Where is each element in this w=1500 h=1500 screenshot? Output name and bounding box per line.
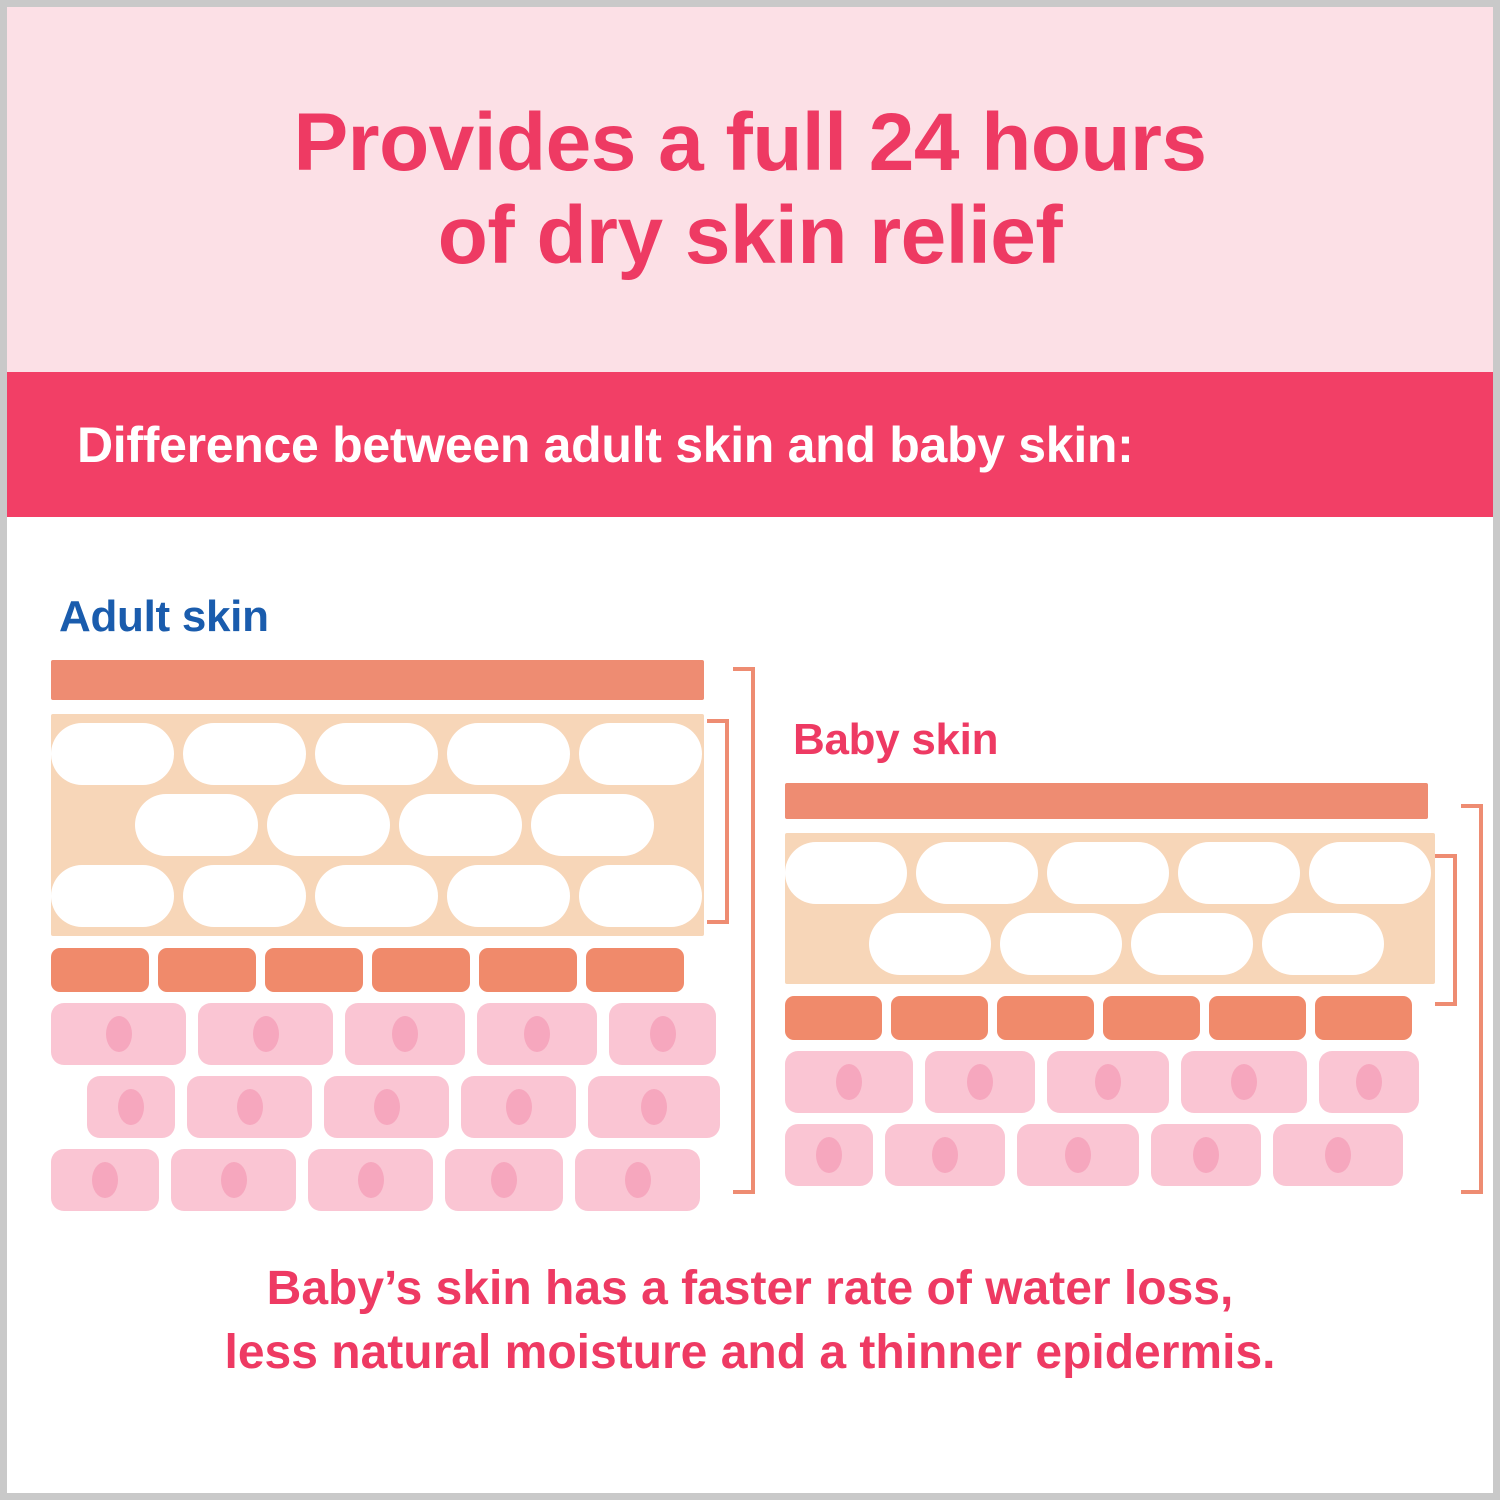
cell-nucleus	[641, 1089, 667, 1125]
cell-nucleus	[650, 1016, 676, 1052]
epidermis-cell	[1309, 842, 1431, 904]
dermis-cell	[1319, 1051, 1419, 1113]
epidermis-cell	[183, 865, 306, 927]
baby-dermis-row	[785, 1124, 1485, 1186]
cell-nucleus	[1065, 1137, 1091, 1173]
adult-epidermis-block	[51, 714, 704, 936]
dermis-cell	[51, 1003, 186, 1065]
basal-cell	[372, 948, 470, 992]
baby-skin-panel: Baby skin	[785, 715, 1485, 1186]
baby-basal-layer-row	[785, 996, 1485, 1040]
headline-band: Provides a full 24 hours of dry skin rel…	[7, 7, 1493, 372]
epidermis-cell	[399, 794, 522, 856]
cell-nucleus	[1231, 1064, 1257, 1100]
adult-dermis-row	[51, 1003, 751, 1065]
baby-epidermis-row	[785, 913, 1435, 975]
cell-nucleus	[221, 1162, 247, 1198]
adult-stratum-corneum-bar	[51, 660, 704, 700]
basal-cell	[51, 948, 149, 992]
cell-nucleus	[524, 1016, 550, 1052]
dermis-cell	[477, 1003, 597, 1065]
basal-cell	[586, 948, 684, 992]
basal-cell	[1103, 996, 1200, 1040]
dermis-cell	[51, 1149, 159, 1211]
epidermis-cell	[51, 865, 174, 927]
cell-nucleus	[1095, 1064, 1121, 1100]
dermis-cell	[345, 1003, 465, 1065]
adult-skin-panel: Adult skin	[51, 592, 751, 1211]
dermis-cell	[445, 1149, 563, 1211]
epidermis-cell	[51, 723, 174, 785]
dermis-cell	[87, 1076, 175, 1138]
epidermis-cell	[531, 794, 654, 856]
epidermis-cell	[579, 865, 702, 927]
dermis-cell	[785, 1124, 873, 1186]
epidermis-cell	[135, 794, 258, 856]
epidermis-cell	[785, 842, 907, 904]
dermis-cell	[1273, 1124, 1403, 1186]
baby-epidermis-block	[785, 833, 1435, 984]
dermis-cell	[575, 1149, 700, 1211]
baby-stratum-corneum-bar	[785, 783, 1428, 819]
adult-epidermis-bracket	[707, 719, 729, 924]
dermis-cell	[187, 1076, 312, 1138]
cell-nucleus	[106, 1016, 132, 1052]
basal-cell	[997, 996, 1094, 1040]
dermis-cell	[1181, 1051, 1307, 1113]
epidermis-cell	[447, 723, 570, 785]
epidermis-cell	[579, 723, 702, 785]
adult-full-skin-bracket	[733, 667, 755, 1194]
dermis-cell	[171, 1149, 296, 1211]
cell-nucleus	[1325, 1137, 1351, 1173]
adult-epidermis-row	[51, 865, 704, 927]
cell-nucleus	[816, 1137, 842, 1173]
baby-skin-label: Baby skin	[793, 715, 1485, 765]
infographic-page: Provides a full 24 hours of dry skin rel…	[0, 0, 1500, 1500]
epidermis-cell	[315, 723, 438, 785]
adult-epidermis-row	[51, 723, 704, 785]
adult-skin-label: Adult skin	[59, 592, 751, 642]
basal-cell	[479, 948, 577, 992]
cell-nucleus	[392, 1016, 418, 1052]
baby-epidermis-bracket	[1435, 854, 1457, 1006]
section-banner: Difference between adult skin and baby s…	[7, 372, 1493, 517]
cell-nucleus	[1193, 1137, 1219, 1173]
basal-cell	[1315, 996, 1412, 1040]
cell-nucleus	[374, 1089, 400, 1125]
basal-cell	[891, 996, 988, 1040]
basal-cell	[158, 948, 256, 992]
epidermis-cell	[1000, 913, 1122, 975]
dermis-cell	[1047, 1051, 1169, 1113]
cell-nucleus	[237, 1089, 263, 1125]
baby-full-skin-bracket	[1461, 804, 1483, 1194]
basal-cell	[1209, 996, 1306, 1040]
dermis-cell	[324, 1076, 449, 1138]
epidermis-cell	[916, 842, 1038, 904]
dermis-cell	[198, 1003, 333, 1065]
cell-nucleus	[118, 1089, 144, 1125]
page-title: Provides a full 24 hours of dry skin rel…	[253, 97, 1246, 282]
cell-nucleus	[253, 1016, 279, 1052]
epidermis-cell	[1047, 842, 1169, 904]
adult-dermis-row	[51, 1076, 751, 1138]
cell-nucleus	[1356, 1064, 1382, 1100]
dermis-cell	[1017, 1124, 1139, 1186]
dermis-cell	[588, 1076, 720, 1138]
epidermis-cell	[267, 794, 390, 856]
adult-epidermis-row	[51, 794, 704, 856]
baby-dermis-row	[785, 1051, 1485, 1113]
epidermis-cell	[1131, 913, 1253, 975]
dermis-cell	[461, 1076, 576, 1138]
dermis-cell	[308, 1149, 433, 1211]
cell-nucleus	[92, 1162, 118, 1198]
cell-nucleus	[967, 1064, 993, 1100]
basal-cell	[785, 996, 882, 1040]
epidermis-cell	[315, 865, 438, 927]
banner-title: Difference between adult skin and baby s…	[7, 416, 1134, 474]
epidermis-cell	[1262, 913, 1384, 975]
skin-comparison-diagram: Adult skin	[7, 517, 1493, 1257]
footer-caption: Baby’s skin has a faster rate of water l…	[165, 1257, 1336, 1385]
cell-nucleus	[836, 1064, 862, 1100]
dermis-cell	[609, 1003, 716, 1065]
dermis-cell	[785, 1051, 913, 1113]
dermis-cell	[925, 1051, 1035, 1113]
dermis-cell	[1151, 1124, 1261, 1186]
epidermis-cell	[869, 913, 991, 975]
adult-basal-layer-row	[51, 948, 751, 992]
adult-dermis-row	[51, 1149, 751, 1211]
epidermis-cell	[447, 865, 570, 927]
cell-nucleus	[358, 1162, 384, 1198]
basal-cell	[265, 948, 363, 992]
footer-caption-area: Baby’s skin has a faster rate of water l…	[7, 1257, 1493, 1493]
cell-nucleus	[506, 1089, 532, 1125]
epidermis-cell	[183, 723, 306, 785]
cell-nucleus	[491, 1162, 517, 1198]
dermis-cell	[885, 1124, 1005, 1186]
cell-nucleus	[932, 1137, 958, 1173]
baby-epidermis-row	[785, 842, 1435, 904]
cell-nucleus	[625, 1162, 651, 1198]
epidermis-cell	[1178, 842, 1300, 904]
